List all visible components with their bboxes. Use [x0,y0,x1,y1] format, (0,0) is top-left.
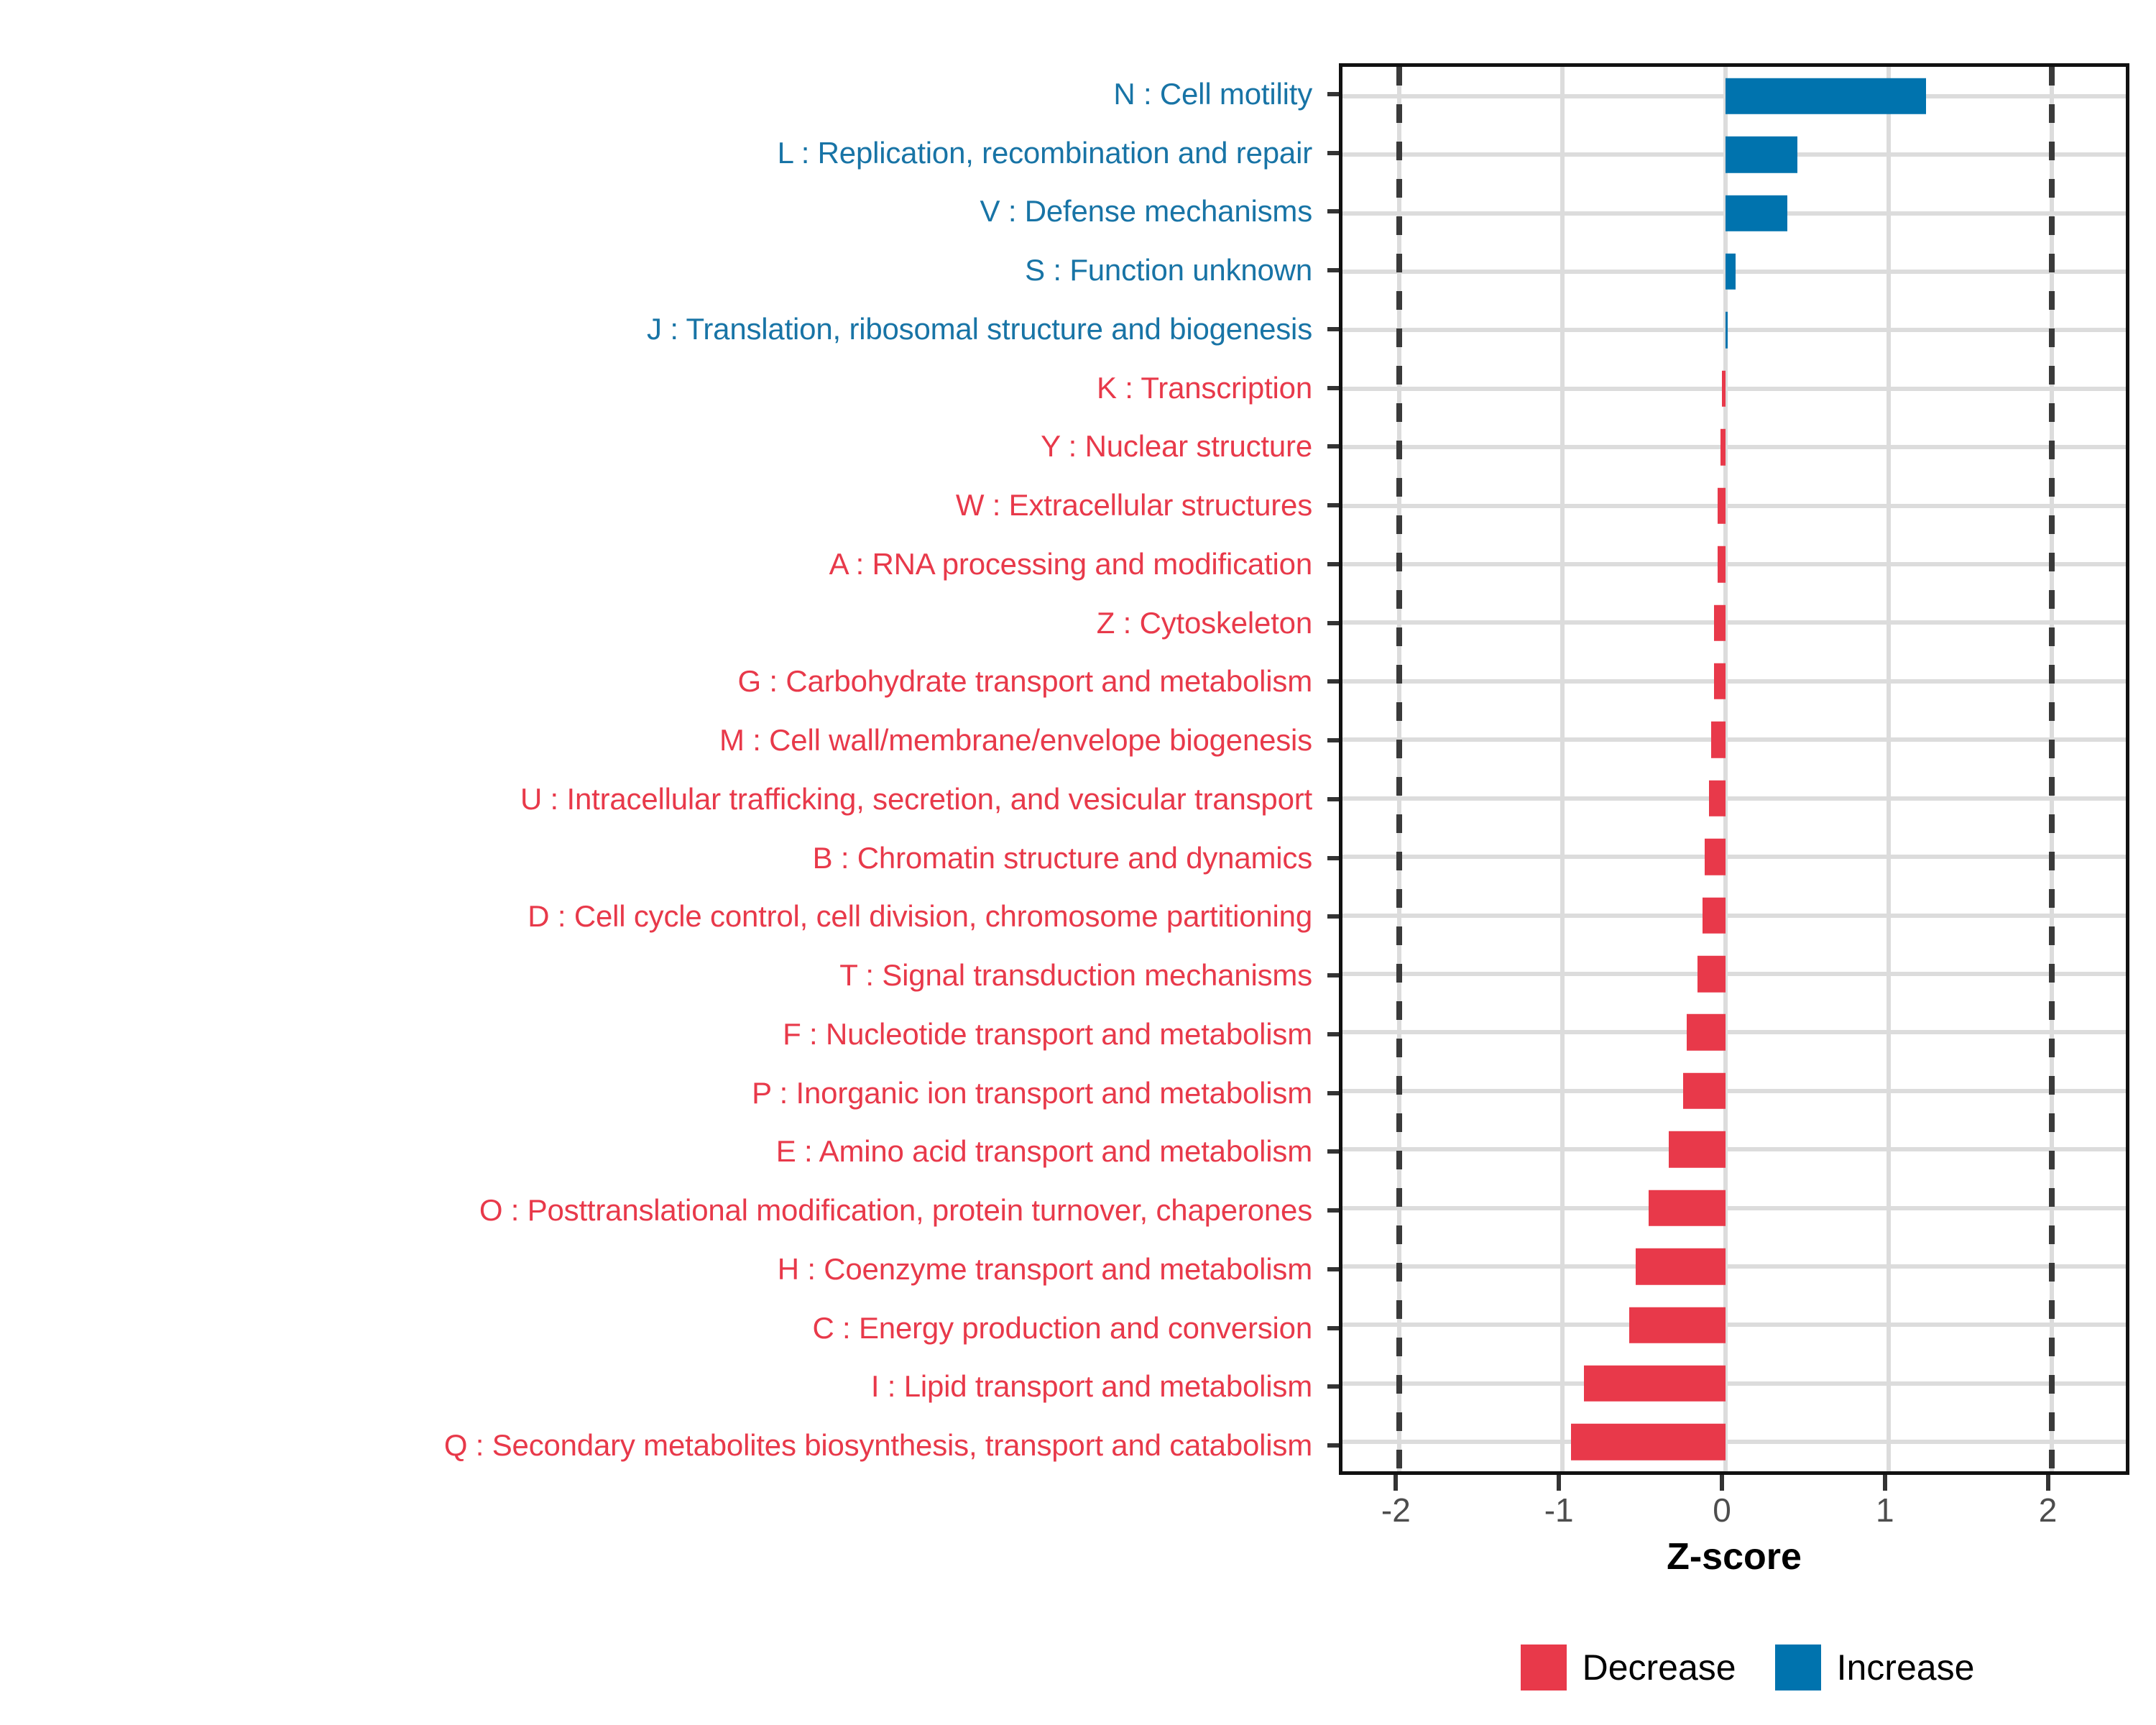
bar-row[interactable] [1342,535,2126,593]
y-axis-label: P : Inorganic ion transport and metaboli… [752,1078,1312,1108]
bar-row[interactable] [1342,1121,2126,1179]
bar-row[interactable] [1342,418,2126,477]
y-axis-tick-row [1321,711,1339,770]
reference-line [1396,67,1402,1471]
y-axis-label: N : Cell motility [1113,79,1312,109]
y-axis-label-row: Y : Nuclear structure [0,418,1321,477]
x-axis-tick-label: 1 [1876,1494,1894,1527]
y-axis-label: Z : Cytoskeleton [1097,608,1312,638]
bar[interactable] [1683,1073,1726,1109]
x-axis-tick-mark [1393,1475,1398,1491]
bar[interactable] [1649,1190,1726,1225]
y-axis-label-row: P : Inorganic ion transport and metaboli… [0,1064,1321,1123]
x-axis-tick-mark [1720,1475,1724,1491]
y-axis-tick-mark [1327,1267,1339,1271]
bar-row[interactable] [1342,711,2126,769]
bar-row[interactable] [1342,477,2126,535]
y-axis-tick-row [1321,1299,1339,1358]
bar-row[interactable] [1342,1354,2126,1412]
bar[interactable] [1714,663,1726,699]
y-axis-label-row: B : Chromatin structure and dynamics [0,829,1321,888]
y-axis-label-row: K : Transcription [0,359,1321,418]
y-axis-label: B : Chromatin structure and dynamics [813,843,1312,873]
bar-row[interactable] [1342,125,2126,183]
y-axis-label: E : Amino acid transport and metabolism [776,1136,1312,1167]
y-axis-tick-mark [1327,856,1339,860]
y-axis-tick-row [1321,241,1339,300]
y-axis-label-row: J : Translation, ribosomal structure and… [0,300,1321,359]
y-axis-tick-mark [1327,503,1339,507]
bar[interactable] [1669,1131,1726,1167]
y-axis-tick-row [1321,418,1339,477]
plot-panel-inner [1342,67,2126,1471]
bar[interactable] [1718,487,1726,523]
x-axis-tick-label: -2 [1381,1494,1411,1527]
bar[interactable] [1726,78,1926,114]
bar[interactable] [1629,1307,1726,1343]
y-axis-label: F : Nucleotide transport and metabolism [783,1019,1312,1049]
x-axis-tick-label: 2 [2039,1494,2058,1527]
y-axis-label-row: G : Carbohydrate transport and metabolis… [0,653,1321,712]
y-axis-tick-marks [1321,65,1339,1475]
bar-row[interactable] [1342,886,2126,944]
y-axis-tick-row [1321,1005,1339,1064]
y-axis-label-row: C : Energy production and conversion [0,1299,1321,1358]
y-axis-label-row: M : Cell wall/membrane/envelope biogenes… [0,711,1321,770]
y-axis-label: S : Function unknown [1025,255,1312,285]
bar-row[interactable] [1342,184,2126,242]
bar[interactable] [1726,137,1797,172]
bar[interactable] [1571,1424,1726,1460]
y-axis-tick-mark [1327,151,1339,155]
y-axis-tick-mark [1327,1326,1339,1330]
y-axis-label: K : Transcription [1097,373,1312,403]
y-axis-label-row: T : Signal transduction mechanisms [0,946,1321,1005]
y-axis-tick-mark [1327,1149,1339,1154]
y-axis-label-row: N : Cell motility [0,65,1321,124]
legend-item[interactable]: Increase [1775,1644,1975,1690]
y-axis-tick-row [1321,1240,1339,1299]
legend-label: Decrease [1583,1650,1736,1685]
x-axis-tick-label: -1 [1544,1494,1574,1527]
y-axis-label: V : Defense mechanisms [980,196,1312,226]
bar[interactable] [1697,956,1726,992]
y-axis-tick-row [1321,1358,1339,1417]
y-axis-tick-mark [1327,621,1339,625]
bar[interactable] [1687,1014,1726,1050]
y-axis-label: C : Energy production and conversion [812,1313,1312,1343]
bar[interactable] [1709,781,1726,816]
y-axis-tick-row [1321,829,1339,888]
y-axis-tick-row [1321,770,1339,829]
y-axis-tick-mark [1327,268,1339,272]
legend-color-swatch [1775,1644,1821,1690]
y-axis-tick-row [1321,594,1339,653]
bar[interactable] [1720,429,1726,465]
bar[interactable] [1703,897,1726,933]
legend-color-swatch [1521,1644,1567,1690]
bar-row[interactable] [1342,827,2126,885]
y-axis-label: D : Cell cycle control, cell division, c… [528,901,1312,931]
y-axis-tick-mark [1327,973,1339,977]
y-axis-label: J : Translation, ribosomal structure and… [647,314,1312,344]
bar[interactable] [1726,312,1728,348]
y-axis-tick-row [1321,300,1339,359]
bars-layer [1342,67,2126,1471]
y-axis-tick-mark [1327,386,1339,390]
y-axis-tick-mark [1327,209,1339,213]
x-axis-tick-mark [1883,1475,1887,1491]
y-axis-tick-row [1321,359,1339,418]
y-axis-tick-row [1321,65,1339,124]
y-axis-label-row: V : Defense mechanisms [0,183,1321,241]
y-axis-label-row: U : Intracellular trafficking, secretion… [0,770,1321,829]
bar[interactable] [1722,371,1726,407]
bar[interactable] [1711,722,1726,758]
y-axis-tick-row [1321,476,1339,535]
bar-row[interactable] [1342,1062,2126,1120]
y-axis-tick-mark [1327,444,1339,448]
y-axis-tick-mark [1327,738,1339,742]
plot-panel [1339,63,2129,1475]
chart-legend: DecreaseIncrease [1339,1635,2156,1700]
bar[interactable] [1705,839,1726,875]
y-axis-tick-row [1321,653,1339,712]
y-axis-tick-row [1321,888,1339,947]
y-axis-label-row: O : Posttranslational modification, prot… [0,1181,1321,1240]
y-axis-tick-mark [1327,1443,1339,1448]
y-axis-label: L : Replication, recombination and repai… [778,138,1312,168]
y-axis-label-row: L : Replication, recombination and repai… [0,124,1321,183]
y-axis-label: A : RNA processing and modification [829,549,1312,579]
bar-row[interactable] [1342,1179,2126,1237]
bar-row[interactable] [1342,359,2126,418]
y-axis-label: H : Coenzyme transport and metabolism [778,1254,1312,1284]
y-axis-label-row: Q : Secondary metabolites biosynthesis, … [0,1416,1321,1475]
bar-row[interactable] [1342,769,2126,827]
bar-row[interactable] [1342,1237,2126,1295]
y-axis-label-row: W : Extracellular structures [0,476,1321,535]
bar-row[interactable] [1342,242,2126,300]
y-axis-label: I : Lipid transport and metabolism [871,1371,1312,1402]
y-axis-tick-mark [1327,679,1339,684]
y-axis-tick-row [1321,124,1339,183]
bar-row[interactable] [1342,67,2126,125]
y-axis-tick-mark [1327,1208,1339,1213]
bar-row[interactable] [1342,1003,2126,1062]
y-axis-tick-row [1321,1064,1339,1123]
y-axis-tick-mark [1327,914,1339,919]
y-axis-label: Y : Nuclear structure [1041,431,1312,461]
y-axis-label-row: A : RNA processing and modification [0,535,1321,594]
bar-row[interactable] [1342,594,2126,652]
y-axis-tick-mark [1327,797,1339,801]
legend-item[interactable]: Decrease [1521,1644,1736,1690]
y-axis-label-row: E : Amino acid transport and metabolism [0,1123,1321,1182]
y-axis-label: Q : Secondary metabolites biosynthesis, … [444,1430,1312,1460]
y-axis-label: W : Extracellular structures [956,490,1312,520]
bar[interactable] [1726,195,1787,231]
y-axis-tick-mark [1327,562,1339,566]
bar[interactable] [1584,1366,1726,1402]
x-axis-tick-label: 0 [1713,1494,1731,1527]
x-axis-title: Z-score [1339,1538,2129,1575]
y-axis-category-labels: N : Cell motilityL : Replication, recomb… [0,65,1321,1475]
reference-line [2049,67,2055,1471]
y-axis-label-row: I : Lipid transport and metabolism [0,1358,1321,1417]
y-axis-tick-mark [1327,1384,1339,1389]
y-axis-tick-row [1321,1416,1339,1475]
bar-row[interactable] [1342,652,2126,710]
y-axis-tick-mark [1327,1032,1339,1036]
chart-root: N : Cell motilityL : Replication, recomb… [0,0,2156,1725]
bar[interactable] [1636,1248,1726,1284]
y-axis-tick-row [1321,1123,1339,1182]
x-axis-tick-mark [1557,1475,1561,1491]
y-axis-label: T : Signal transduction mechanisms [839,960,1312,990]
y-axis-label: U : Intracellular trafficking, secretion… [520,784,1312,814]
bar-row[interactable] [1342,1296,2126,1354]
y-axis-label: M : Cell wall/membrane/envelope biogenes… [719,725,1312,755]
x-axis-tick-mark [2046,1475,2050,1491]
y-axis-label-row: D : Cell cycle control, cell division, c… [0,888,1321,947]
y-axis-label: O : Posttranslational modification, prot… [479,1195,1312,1225]
y-axis-tick-mark [1327,327,1339,331]
y-axis-tick-mark [1327,1091,1339,1095]
y-axis-tick-row [1321,1181,1339,1240]
bar-row[interactable] [1342,1413,2126,1471]
y-axis-label-row: H : Coenzyme transport and metabolism [0,1240,1321,1299]
y-axis-tick-mark [1327,92,1339,96]
y-axis-label-row: S : Function unknown [0,241,1321,300]
y-axis-tick-row [1321,946,1339,1005]
y-axis-label-row: F : Nucleotide transport and metabolism [0,1005,1321,1064]
bar[interactable] [1726,254,1736,290]
bar-row[interactable] [1342,944,2126,1003]
y-axis-tick-row [1321,535,1339,594]
bar[interactable] [1714,604,1726,640]
y-axis-label-row: Z : Cytoskeleton [0,594,1321,653]
legend-label: Increase [1837,1650,1975,1685]
bar-row[interactable] [1342,301,2126,359]
y-axis-label: G : Carbohydrate transport and metabolis… [737,666,1312,696]
bar[interactable] [1718,546,1726,582]
y-axis-tick-row [1321,183,1339,241]
